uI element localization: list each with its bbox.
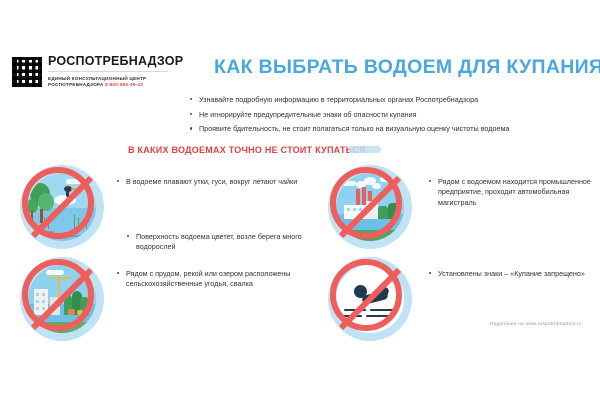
brand-logo-block: РОСПОТРЕБНАДЗОР ЕДИНЫЙ КОНСУЛЬТАЦИОННЫЙ … [12, 55, 177, 88]
warning-item-industry: Рядом с водоемом находится промышленное … [316, 163, 596, 251]
warning-item-label: Рядом с водоемом находится промышленное … [429, 177, 596, 208]
no-farmland-dump-icon [8, 255, 113, 343]
brand-divider [48, 71, 168, 72]
brand-subtitle-org: РОСПОТРЕБНАДЗОРА [48, 82, 104, 87]
no-swimming-sign-icon [316, 255, 421, 343]
warning-item-label-algae: Поверхность водоема цветет, возле берега… [127, 232, 326, 253]
brand-hotline-phone[interactable]: 8-800-555-49-43 [105, 82, 143, 87]
warning-item-label: Установлены знаки – «Купание запрещено» [429, 269, 585, 279]
infographic-poster: РОСПОТРЕБНАДЗОР ЕДИНЫЙ КОНСУЛЬТАЦИОННЫЙ … [0, 0, 600, 400]
no-waterfowl-icon [8, 163, 113, 251]
list-item: Не игнорируйте предупредительные знаки о… [190, 110, 592, 120]
advice-bullet-list: Узнавайте подробную информацию в террито… [190, 95, 592, 139]
brand-text: РОСПОТРЕБНАДЗОР ЕДИНЫЙ КОНСУЛЬТАЦИОННЫЙ … [48, 55, 183, 88]
qr-code-icon[interactable] [12, 57, 42, 87]
list-item: Узнавайте подробную информацию в террито… [190, 95, 592, 105]
warning-item-no-swimming: Установлены знаки – «Купание запрещено» [316, 255, 596, 343]
brand-name: РОСПОТРЕБНАДЗОР [48, 55, 183, 68]
section-banner-label: В КАКИХ ВОДОЕМАХ ТОЧНО НЕ СТОИТ КУПАТЬСЯ [128, 145, 366, 155]
brand-subtitle-line2: РОСПОТРЕБНАДЗОРА 8-800-555-49-43 [48, 82, 183, 88]
warning-item-label: В водоеме плавают утки, гуси, вокруг лет… [117, 177, 297, 187]
no-industry-near-water-icon [316, 163, 421, 251]
warning-item-algae: Рядом с прудом, рекой или озером располо… [8, 255, 318, 343]
warning-item-label: Рядом с прудом, рекой или озером располо… [117, 269, 318, 290]
list-item: Проявите бдительность, не стоит полагать… [190, 124, 592, 134]
footer-link[interactable]: Подробнее на www.rospotrebnadzor.ru [490, 322, 582, 327]
section-banner: В КАКИХ ВОДОЕМАХ ТОЧНО НЕ СТОИТ КУПАТЬСЯ [128, 143, 366, 157]
page-title: КАК ВЫБРАТЬ ВОДОЕМ ДЛЯ КУПАНИЯ [214, 57, 586, 78]
banner-tail-shape [349, 146, 381, 153]
